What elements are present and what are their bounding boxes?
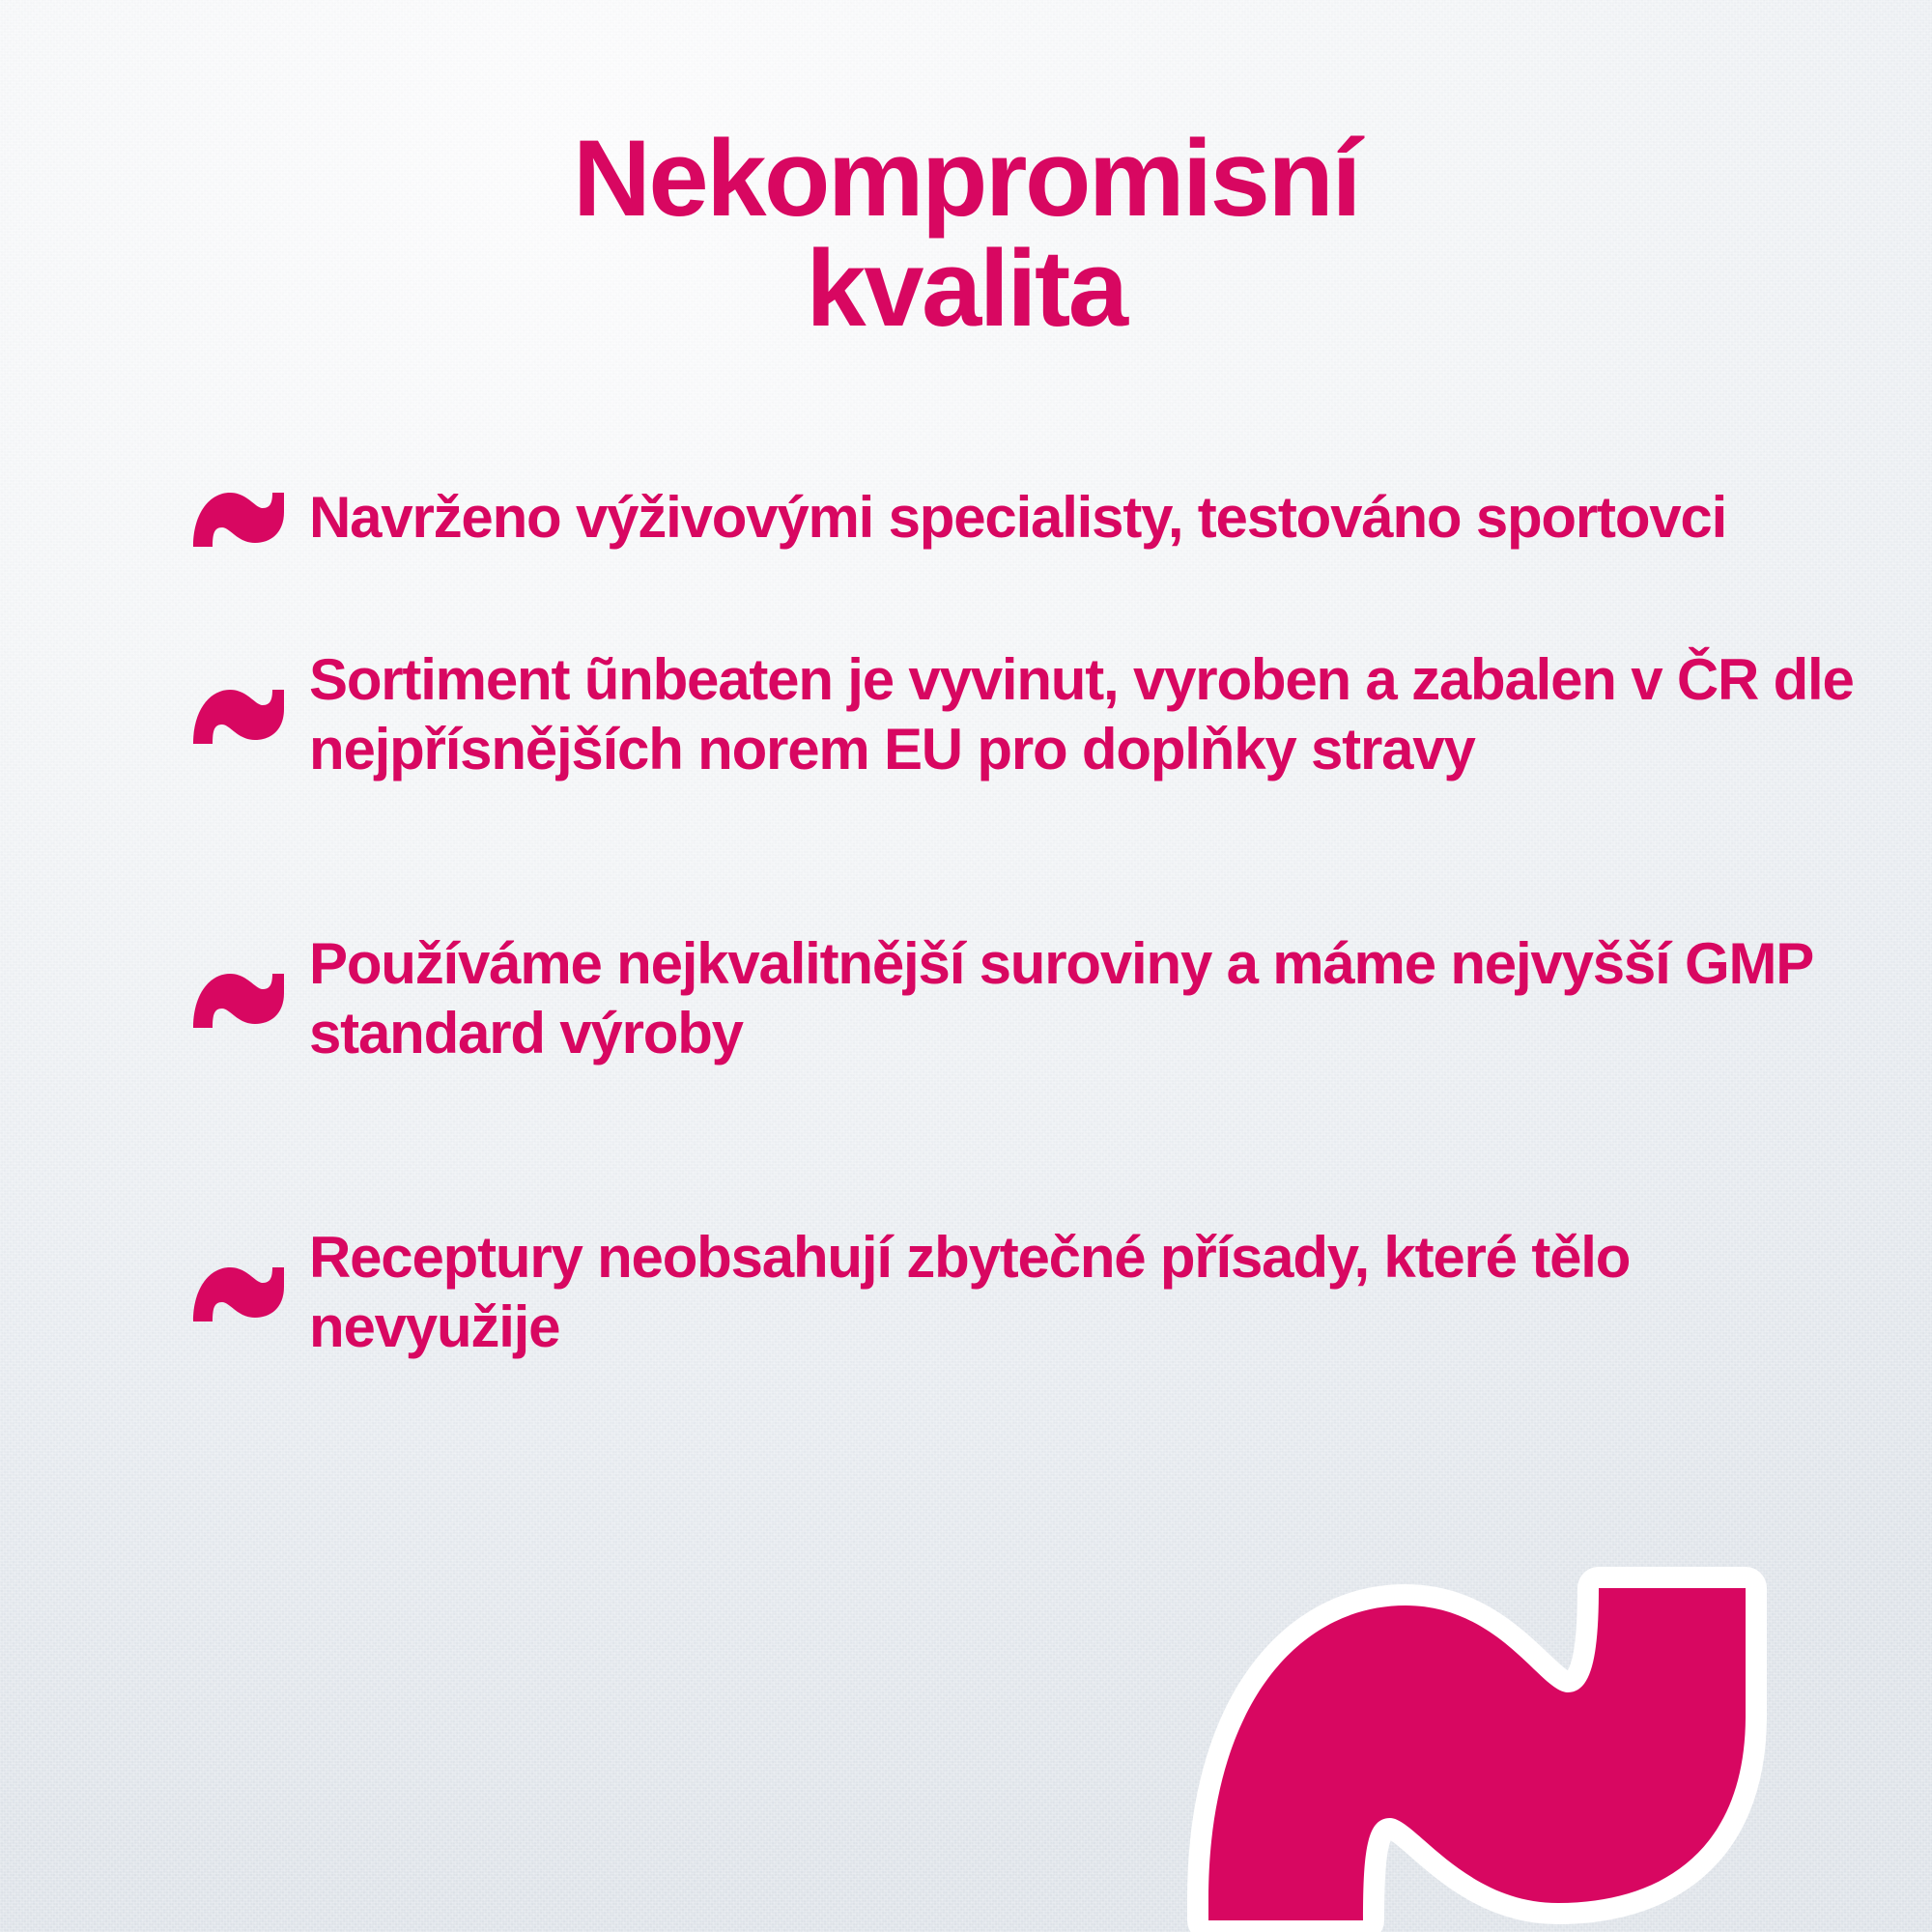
wave-n-bullet-icon <box>189 483 286 553</box>
list-item: Používáme nejkvalitnější suroviny a máme… <box>0 929 1932 1068</box>
wave-n-bullet-icon <box>189 964 286 1034</box>
wave-n-logo-icon <box>1174 1546 1773 1932</box>
list-item: Receptury neobsahují zbytečné přísady, k… <box>0 1223 1932 1362</box>
list-item-label: Používáme nejkvalitnější suroviny a máme… <box>309 929 1874 1068</box>
benefits-list: Navrženo výživovými specialisty, testová… <box>0 483 1932 1362</box>
wave-n-bullet-icon <box>189 680 286 750</box>
title-line-1: Nekompromisní <box>0 124 1932 234</box>
list-item-label: Sortiment ũnbeaten je vyvinut, vyroben a… <box>309 645 1874 784</box>
list-item-label: Navrženo výživovými specialisty, testová… <box>309 483 1726 553</box>
list-item: Sortiment ũnbeaten je vyvinut, vyroben a… <box>0 645 1932 784</box>
title-line-2: kvalita <box>0 234 1932 344</box>
list-item-label: Receptury neobsahují zbytečné přísady, k… <box>309 1223 1874 1362</box>
page-title: Nekompromisní kvalita <box>0 124 1932 344</box>
list-item: Navrženo výživovými specialisty, testová… <box>0 483 1932 553</box>
poster-canvas: Nekompromisní kvalita Navrženo výživovým… <box>0 0 1932 1932</box>
wave-n-bullet-icon <box>189 1258 286 1327</box>
